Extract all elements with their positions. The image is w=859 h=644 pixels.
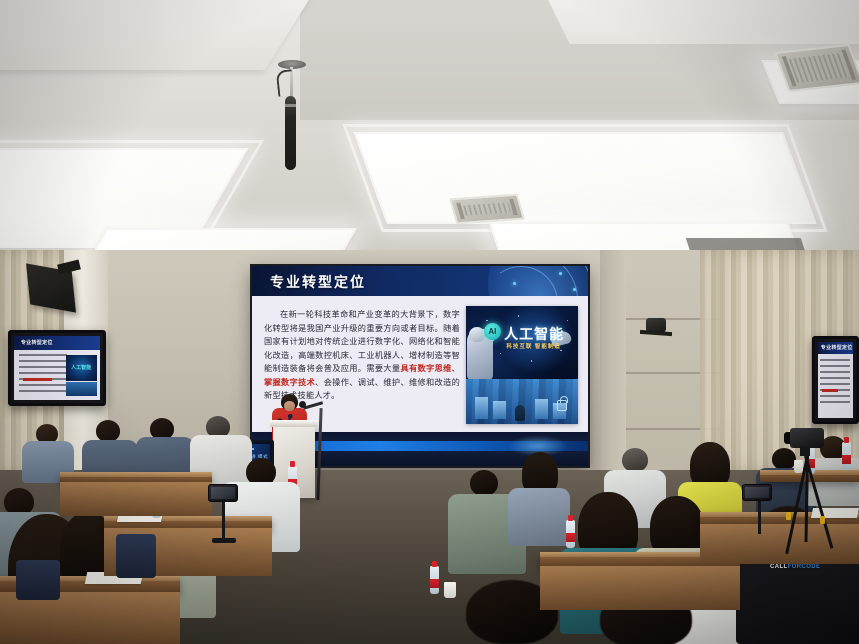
desk-front-panel [60, 482, 212, 516]
wall-column-right [600, 250, 626, 480]
mini-slide-title: 专业转型定位 [21, 339, 53, 346]
mini-slide-image: 人工智能 [66, 355, 97, 381]
mini-slide-header: 专业转型定位 [818, 342, 853, 354]
mini-slide-title: 专业转型定位 [821, 344, 853, 351]
mini-image-caption: 人工智能 [66, 364, 97, 371]
presenter-face [284, 401, 295, 411]
mini-slide-highlight [23, 378, 52, 381]
worker-figure-icon [515, 405, 525, 421]
paper-cup [444, 582, 456, 598]
mini-slide-text [820, 359, 850, 405]
microphone-head-icon [299, 401, 306, 408]
microphone-cable [276, 69, 295, 97]
node-dot-icon [513, 282, 516, 285]
monitor-screen: 专业转型定位 [818, 342, 853, 418]
water-bottle [566, 520, 575, 548]
phone-stand [758, 500, 761, 534]
tripod-lock [820, 516, 825, 524]
chair [116, 534, 156, 578]
ai-badge-icon: AI [484, 323, 501, 340]
lock-icon [557, 400, 567, 411]
slide-header-bar: 专业转型定位 [252, 266, 588, 296]
phone-stand [222, 500, 225, 540]
bottle-label [566, 533, 575, 542]
paragraph-highlight-2: 掌握数字技术 [264, 378, 315, 387]
ai-image-factory [466, 379, 578, 424]
ceiling-microphone [272, 60, 312, 170]
smartphone-on-stand[interactable] [208, 484, 238, 502]
slide-paragraph: 在新一轮科技革命和产业变革的大背景下，数字化转型将是我国产业升级的重要方向或者目… [264, 308, 460, 403]
tripod-lock [786, 512, 791, 520]
ceiling [0, 0, 859, 262]
ai-image-subtitle: 科技互联 智能制造 [506, 342, 561, 350]
bottle-label [430, 579, 439, 588]
video-camera[interactable] [790, 428, 824, 448]
microphone-ring [285, 104, 296, 107]
ceiling-soffit-right [540, 0, 859, 44]
bottle-label [842, 455, 851, 464]
monitor-screen: 专业转型定位 人工智能 [14, 336, 100, 400]
paragraph-highlight-1: 具有数字思维 [400, 364, 451, 373]
vent-grill [463, 202, 511, 215]
microphone-capsule [285, 96, 296, 170]
slide-ai-image: AI 人工智能 科技互联 智能制造 [466, 306, 578, 424]
mini-slide-header: 专业转型定位 [14, 336, 100, 350]
shirt-text-for: FOR [788, 564, 802, 570]
vent-louver [509, 199, 518, 215]
mini-slide-image-bottom [66, 382, 97, 396]
lecture-room-photo: 专业转型定位 人工智能 专业转型定位 [0, 0, 859, 644]
ceiling-light-panel [353, 132, 816, 224]
phone-stand-base [212, 538, 236, 543]
shirt-text-code: CODE [801, 564, 820, 570]
side-monitor-right[interactable]: 专业转型定位 [812, 336, 859, 424]
air-conditioning-vent [774, 44, 859, 92]
water-bottle [842, 442, 851, 470]
desk-front-panel [700, 524, 859, 564]
paragraph-separator: 、 [452, 364, 460, 373]
slide-title: 专业转型定位 [270, 272, 366, 292]
ai-image-title: 人工智能 [504, 324, 564, 344]
ai-image-top: AI 人工智能 科技互联 智能制造 [466, 306, 578, 382]
mini-slide-highlight [822, 389, 838, 392]
ceiling-soffit-left [0, 0, 315, 70]
vent-grill [789, 53, 850, 83]
desk-front-panel [540, 566, 740, 610]
node-dot-icon [559, 272, 562, 275]
desk-edge [60, 472, 212, 477]
side-monitor-left[interactable]: 专业转型定位 人工智能 [8, 330, 106, 406]
smartphone-on-stand[interactable] [742, 484, 772, 501]
water-bottle [430, 566, 439, 594]
podium-top [270, 420, 318, 427]
phone-screen [745, 487, 769, 498]
chair [16, 560, 60, 600]
node-dot-icon [573, 288, 576, 291]
mini-slide-text [19, 354, 67, 394]
paper-notes [811, 508, 859, 518]
tripod-head [800, 446, 810, 456]
shirt-text-call: CALL [770, 564, 788, 570]
air-conditioning-vent [449, 194, 525, 225]
shirt-graphic: CALLFORCODE [770, 564, 820, 570]
phone-screen [211, 487, 235, 499]
robot-head-icon [469, 327, 485, 342]
